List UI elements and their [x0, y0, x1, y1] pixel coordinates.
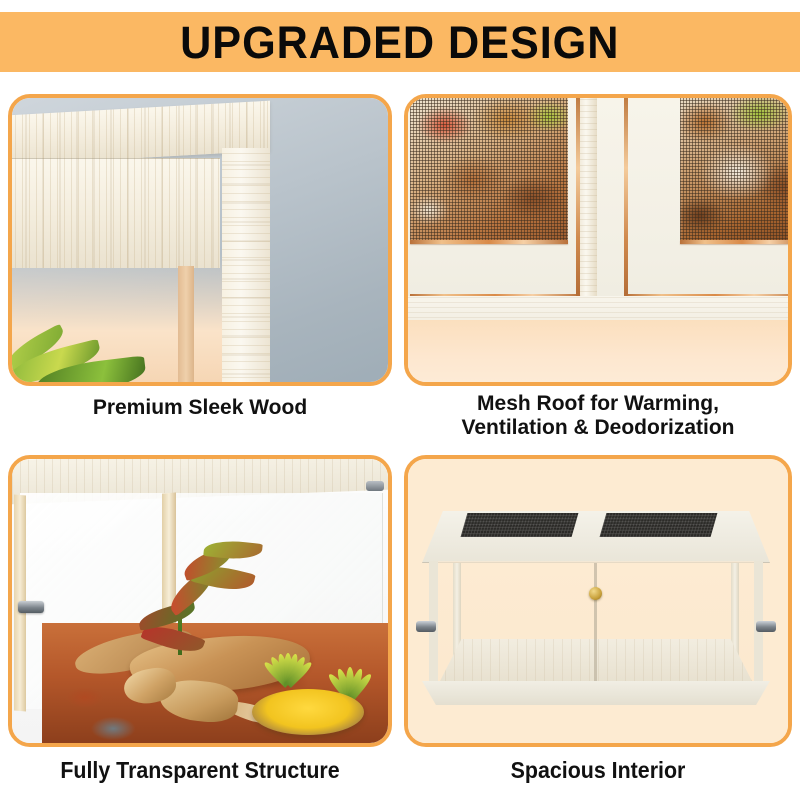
copper-trim: [410, 240, 568, 244]
wood-vertical-stile: [222, 148, 270, 382]
photo-mesh-roof: [408, 98, 788, 382]
latch-icon: [589, 587, 602, 600]
mesh-grid: [410, 98, 568, 242]
caption-mesh-roof: Mesh Roof for Warming, Ventilation & Deo…: [404, 392, 792, 441]
wood-leg: [178, 266, 194, 382]
door-knob: [756, 621, 776, 632]
photo-spacious-interior: [408, 459, 788, 743]
panel-premium-sleek-wood: [8, 94, 392, 386]
bearded-dragon: [124, 661, 274, 743]
door-knob: [366, 481, 384, 491]
green-succulent: [254, 641, 314, 685]
door-knob: [18, 601, 44, 613]
page-title: UPGRADED DESIGN: [180, 20, 619, 65]
roof-mesh-panel-left: [460, 513, 578, 537]
copper-trim-vertical: [576, 98, 580, 298]
caption-line-1: Mesh Roof for Warming,: [404, 392, 792, 416]
panel-mesh-roof: [404, 94, 792, 386]
caption-premium-sleek-wood: Premium Sleek Wood: [8, 396, 392, 420]
door-knob: [416, 621, 436, 632]
wood-front-panel: [12, 158, 220, 268]
cage-base: [422, 681, 770, 705]
infographic-sheet: UPGRADED DESIGN Premium Sleek Wood: [0, 0, 800, 800]
copper-trim: [680, 240, 788, 244]
door-split-line: [594, 563, 597, 681]
mesh-screen-left: [410, 98, 568, 242]
red-plant: [138, 537, 266, 655]
peach-strip: [408, 320, 788, 382]
caption-line-2: Ventilation & Deodorization: [404, 416, 792, 440]
reptile-habitat: [422, 511, 770, 707]
photo-transparent-structure: [12, 459, 388, 743]
photo-premium-sleek-wood: [12, 98, 388, 382]
roof-mesh-panel-right: [600, 513, 718, 537]
mesh-grid: [680, 98, 788, 242]
panel-fully-transparent-structure: [8, 455, 392, 747]
panel-spacious-interior: [404, 455, 792, 747]
caption-spacious-interior: Spacious Interior: [418, 757, 779, 784]
caption-fully-transparent-structure: Fully Transparent Structure: [21, 757, 378, 784]
food-dish: [252, 689, 364, 735]
copper-trim-vertical: [624, 98, 628, 298]
header-banner: UPGRADED DESIGN: [0, 12, 800, 72]
mesh-screen-right: [680, 98, 788, 242]
center-wood-divider: [577, 98, 597, 328]
